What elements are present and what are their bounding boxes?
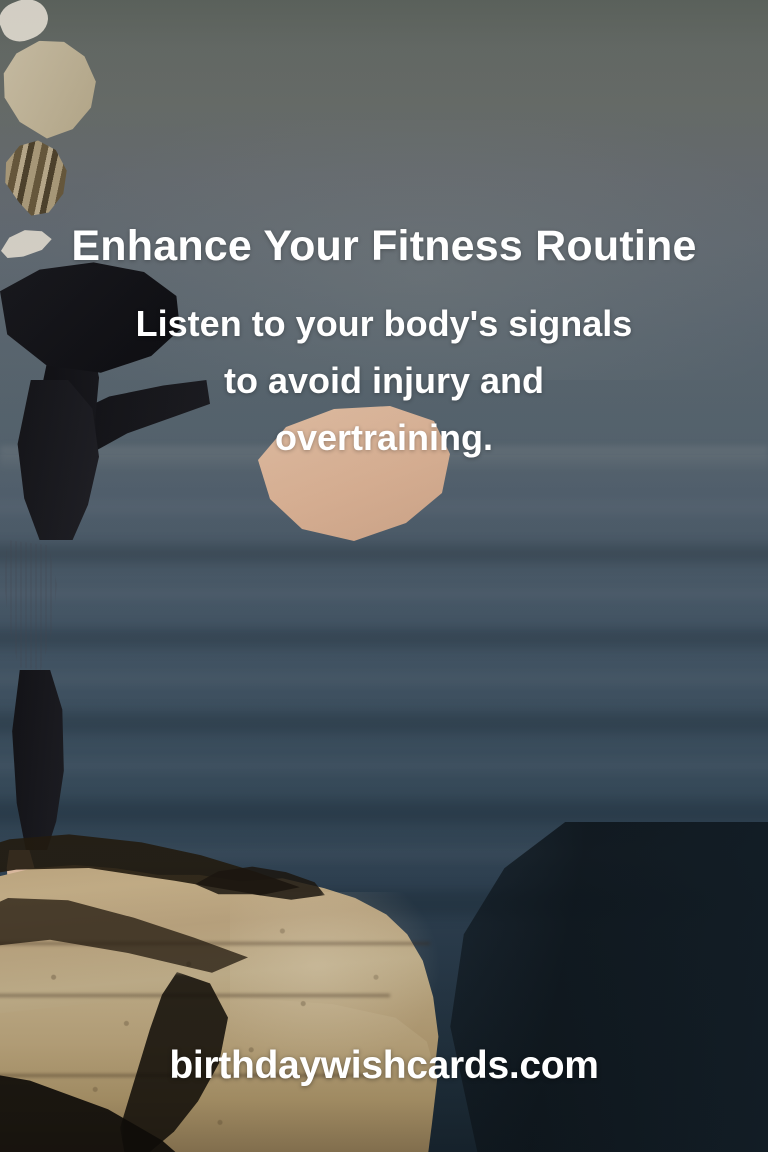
subheadline-line-1: Listen to your body's signals [0, 295, 768, 352]
headline: Enhance Your Fitness Routine [0, 224, 768, 269]
site-name-watermark: birthdaywishcards.com [0, 1044, 768, 1088]
pinterest-fitness-quote-card: Enhance Your Fitness Routine Listen to y… [0, 0, 768, 1152]
subheadline: Listen to your body's signals to avoid i… [0, 295, 768, 466]
text-overlay: Enhance Your Fitness Routine Listen to y… [0, 0, 768, 1152]
subheadline-line-3: overtraining. [0, 409, 768, 466]
subheadline-line-2: to avoid injury and [0, 352, 768, 409]
